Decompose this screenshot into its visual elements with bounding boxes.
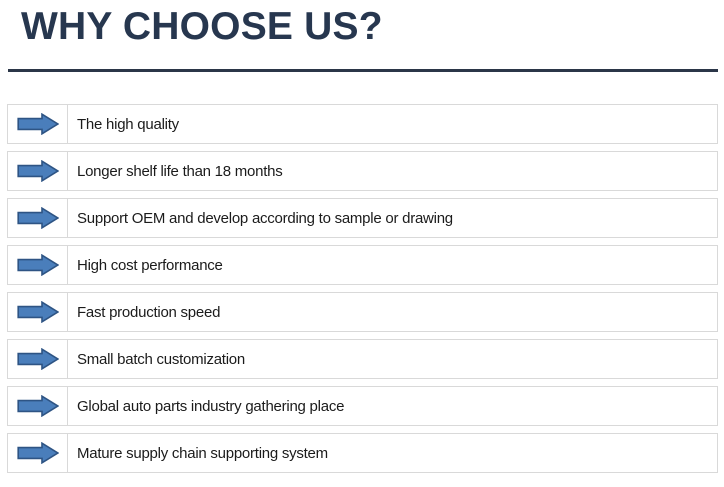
arrow-cell — [8, 246, 68, 284]
right-arrow-icon — [17, 348, 59, 370]
feature-label: The high quality — [77, 115, 179, 134]
right-arrow-icon — [17, 113, 59, 135]
right-arrow-icon — [17, 442, 59, 464]
table-row: The high quality — [7, 104, 718, 144]
label-cell: Small batch customization — [68, 340, 717, 378]
right-arrow-icon — [17, 395, 59, 417]
table-row: Support OEM and develop according to sam… — [7, 198, 718, 238]
feature-label: Global auto parts industry gathering pla… — [77, 397, 344, 416]
feature-label: Mature supply chain supporting system — [77, 444, 328, 463]
label-cell: The high quality — [68, 105, 717, 143]
label-cell: Fast production speed — [68, 293, 717, 331]
arrow-cell — [8, 293, 68, 331]
right-arrow-icon — [17, 160, 59, 182]
label-cell: Mature supply chain supporting system — [68, 434, 717, 472]
why-choose-us-page: WHY CHOOSE US? The high quality Longer s… — [0, 0, 724, 487]
arrow-cell — [8, 152, 68, 190]
feature-list-table: The high quality Longer shelf life than … — [7, 104, 718, 480]
label-cell: Longer shelf life than 18 months — [68, 152, 717, 190]
page-title: WHY CHOOSE US? — [21, 2, 383, 52]
arrow-cell — [8, 387, 68, 425]
right-arrow-icon — [17, 254, 59, 276]
table-row: Global auto parts industry gathering pla… — [7, 386, 718, 426]
right-arrow-icon — [17, 301, 59, 323]
table-row: High cost performance — [7, 245, 718, 285]
feature-label: Small batch customization — [77, 350, 245, 369]
feature-label: High cost performance — [77, 256, 223, 275]
label-cell: Global auto parts industry gathering pla… — [68, 387, 717, 425]
arrow-cell — [8, 340, 68, 378]
arrow-cell — [8, 434, 68, 472]
feature-label: Support OEM and develop according to sam… — [77, 209, 453, 228]
arrow-cell — [8, 199, 68, 237]
right-arrow-icon — [17, 207, 59, 229]
table-row: Small batch customization — [7, 339, 718, 379]
label-cell: Support OEM and develop according to sam… — [68, 199, 717, 237]
table-row: Fast production speed — [7, 292, 718, 332]
table-row: Mature supply chain supporting system — [7, 433, 718, 473]
arrow-cell — [8, 105, 68, 143]
feature-label: Fast production speed — [77, 303, 220, 322]
table-row: Longer shelf life than 18 months — [7, 151, 718, 191]
title-divider — [8, 69, 718, 72]
page-header: WHY CHOOSE US? — [0, 0, 724, 96]
feature-label: Longer shelf life than 18 months — [77, 162, 282, 181]
label-cell: High cost performance — [68, 246, 717, 284]
